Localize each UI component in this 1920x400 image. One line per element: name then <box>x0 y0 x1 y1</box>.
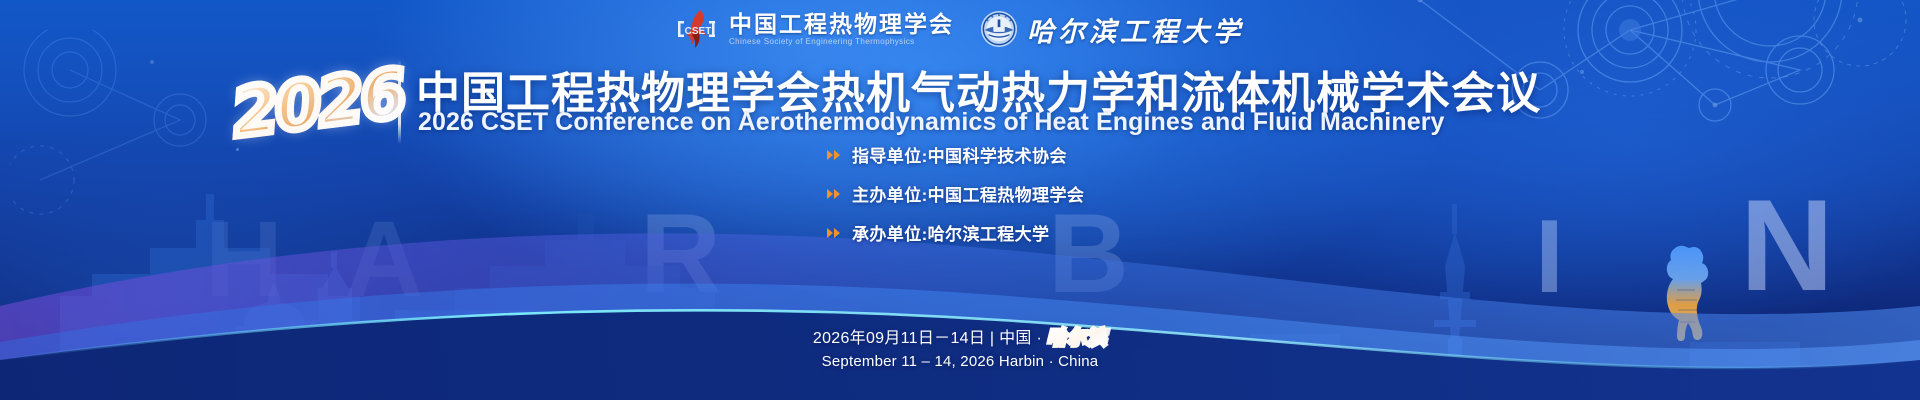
date-cn-row: 2026年09月11日－14日 | 中国 · 哈尔滨 <box>813 322 1107 349</box>
organizer-label: 指导单位:中国科学技术协会 <box>852 142 1067 167</box>
svg-text:CSET: CSET <box>685 26 712 37</box>
heu-name-cn: 哈尔滨工程大学 <box>1027 10 1244 49</box>
year-graffiti-graphic: 2026 <box>228 48 408 158</box>
heu-emblem-icon <box>980 10 1018 48</box>
date-cn-text: 2026年09月11日－14日 | 中国 · <box>813 324 1042 348</box>
organizer-list: 指导单位:中国科学技术协会 主办单位:中国工程热物理学会 承办单位:哈尔滨工程大… <box>826 142 1084 245</box>
harbin-city-stamp: 哈尔滨 <box>1047 323 1107 350</box>
logo-heu: 哈尔滨工程大学 <box>980 10 1244 49</box>
organizer-row: 承办单位:哈尔滨工程大学 <box>826 220 1084 245</box>
year-graffiti-text: 2026 <box>222 37 414 168</box>
logo-row: CSET 中国工程热物理学会 Chinese Society of Engine… <box>0 9 1920 49</box>
title-divider <box>398 60 401 144</box>
date-en-text: September 11 – 14, 2026 Harbin · China <box>0 353 1920 370</box>
cset-name-en: Chinese Society of Engineering Thermophy… <box>729 38 954 47</box>
cset-flame-logo-icon: CSET <box>676 9 720 49</box>
double-arrow-icon <box>826 149 842 161</box>
conference-banner: H A R B I N <box>0 0 1920 400</box>
double-arrow-icon <box>826 188 842 200</box>
date-block: 2026年09月11日－14日 | 中国 · 哈尔滨 September 11 … <box>0 322 1920 370</box>
page-title-en: 2026 CSET Conference on Aerothermodynami… <box>418 108 1518 137</box>
organizer-label: 主办单位:中国工程热物理学会 <box>852 181 1084 206</box>
cset-logo-text: 中国工程热物理学会 Chinese Society of Engineering… <box>729 12 954 47</box>
cset-name-cn: 中国工程热物理学会 <box>729 12 954 36</box>
organizer-row: 主办单位:中国工程热物理学会 <box>826 181 1084 206</box>
organizer-label: 承办单位:哈尔滨工程大学 <box>852 220 1049 245</box>
organizer-row: 指导单位:中国科学技术协会 <box>826 142 1084 167</box>
logo-cset: CSET 中国工程热物理学会 Chinese Society of Engine… <box>676 9 954 49</box>
double-arrow-icon <box>826 227 842 239</box>
